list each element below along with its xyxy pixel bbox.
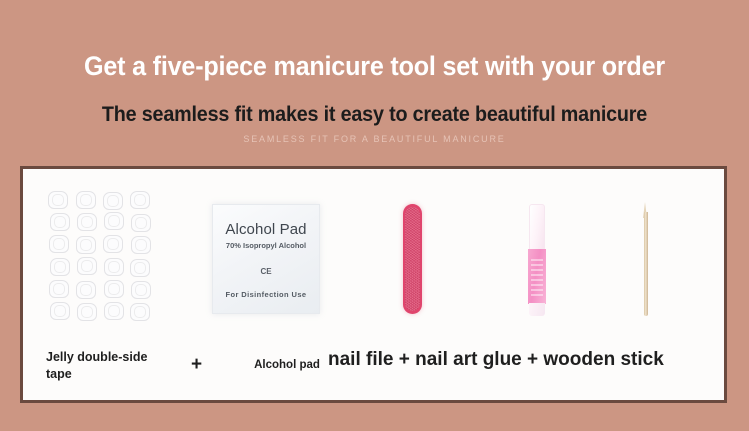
tape-tab: [131, 214, 151, 232]
label-alcohol-pad: Alcohol pad: [232, 358, 342, 373]
subheading: The seamless fit makes it easy to create…: [22, 103, 726, 127]
tape-tab: [50, 302, 70, 320]
tape-tab: [50, 258, 70, 276]
jelly-double-side-tape-image: [48, 191, 158, 323]
tape-tab: [76, 281, 96, 299]
ce-mark: CE: [213, 267, 319, 276]
alcohol-pad-usage: For Disinfection Use: [213, 290, 319, 299]
tape-tab: [131, 281, 151, 299]
nail-file-image: [403, 204, 422, 314]
tape-tab: [103, 192, 123, 210]
tape-tab: [131, 236, 151, 254]
glue-body: [528, 249, 546, 304]
tape-tab: [77, 213, 97, 231]
label-remaining-tools: nail file + nail art glue + wooden stick: [328, 347, 664, 373]
tape-tab: [77, 303, 97, 321]
tape-tab: [77, 257, 97, 275]
tape-tab: [76, 191, 96, 209]
product-image-row: Alcohol Pad 70% Isopropyl Alcohol CE For…: [23, 169, 724, 341]
tape-tab: [104, 258, 124, 276]
label-jelly-tape: Jelly double-side tape: [46, 349, 166, 383]
tape-tab: [104, 302, 124, 320]
tape-tab: [130, 303, 150, 321]
tape-tab: [104, 280, 124, 298]
glue-cap: [529, 204, 545, 251]
alcohol-pad-image: Alcohol Pad 70% Isopropyl Alcohol CE For…: [212, 204, 320, 314]
label-plus-separator: +: [191, 355, 202, 375]
alcohol-pad-subtitle: 70% Isopropyl Alcohol: [213, 241, 319, 250]
tape-tab: [50, 213, 70, 231]
page-title: Get a five-piece manicure tool set with …: [26, 51, 723, 81]
tape-tab: [48, 191, 68, 209]
stick-body: [644, 212, 648, 316]
tape-tab: [104, 212, 124, 230]
promo-banner: Get a five-piece manicure tool set with …: [0, 0, 749, 431]
glue-base: [529, 303, 545, 316]
caption-text: SEAMLESS FIT FOR A BEAUTIFUL MANICURE: [0, 133, 749, 145]
wooden-stick-image: [641, 202, 650, 316]
product-showcase-card: Alcohol Pad 70% Isopropyl Alcohol CE For…: [20, 166, 727, 403]
tape-tab: [49, 235, 69, 253]
tape-tab: [76, 236, 96, 254]
tape-tab: [103, 235, 123, 253]
nail-art-glue-image: [528, 204, 546, 316]
tape-tab: [130, 191, 150, 209]
product-labels-row: Jelly double-side tape + Alcohol pad nai…: [23, 341, 724, 400]
tape-tab: [130, 259, 150, 277]
alcohol-pad-title: Alcohol Pad: [213, 221, 319, 238]
tape-tab: [49, 280, 69, 298]
